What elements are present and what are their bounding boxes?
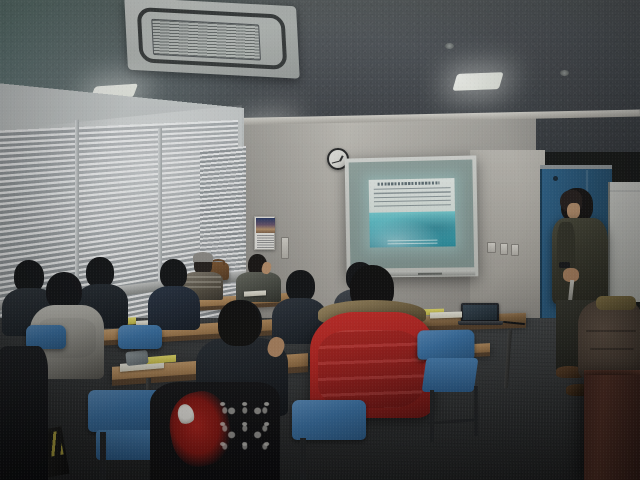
presenter-face (567, 203, 580, 219)
light-switch-plate[interactable] (487, 242, 496, 253)
wooden-podium (584, 375, 640, 480)
attendee-torso-gray-jacket (236, 272, 281, 302)
chair-leg (430, 390, 434, 442)
light-switch-plate[interactable] (511, 244, 519, 256)
bag-handle (211, 259, 225, 265)
wall-control-panel[interactable] (281, 237, 289, 259)
chair-leg (300, 438, 306, 480)
draped-brown-coat (578, 300, 640, 378)
desk-object-cup (125, 350, 148, 366)
ac-grille (151, 19, 261, 61)
attendee-head (218, 300, 260, 346)
foreground-attendee-shoulder (0, 346, 48, 480)
partition-handle[interactable] (553, 176, 558, 181)
paper-document (430, 311, 462, 318)
laptop-base[interactable] (458, 321, 503, 325)
laptop-display (463, 305, 497, 320)
chair-back[interactable] (417, 330, 474, 361)
chair-seat[interactable] (422, 358, 479, 392)
slide-body-text (374, 187, 451, 210)
coat-fold (590, 348, 634, 350)
light-switch-plate[interactable] (500, 243, 508, 255)
smoke-detector-icon (560, 70, 569, 76)
whiteboard-marker (418, 273, 442, 275)
slide-photo-caption (388, 240, 438, 246)
poster-image (256, 218, 275, 233)
ceiling-light-right (452, 72, 503, 91)
attendee-torso-navy (148, 286, 200, 330)
attendee-hair-gray (193, 252, 213, 262)
whiteboard-content (608, 190, 640, 294)
clock-minute-hand (332, 160, 340, 163)
partition-track (540, 165, 612, 169)
classroom-photo-scene: Classroom seminar with projector present… (0, 0, 640, 480)
coat-fold (586, 330, 636, 332)
sprinkler-head-icon (445, 43, 454, 49)
chair-leg (474, 386, 478, 436)
wall-poster (254, 216, 275, 250)
chair-leg (100, 432, 106, 480)
projection-screen-board (345, 155, 479, 277)
wristwatch (559, 262, 570, 268)
attendee-head (160, 259, 187, 289)
ceiling-air-conditioner (124, 0, 300, 79)
wave-motif (216, 396, 272, 454)
item-on-podium (596, 296, 636, 310)
coat-quilting (318, 330, 424, 408)
chair-back[interactable] (118, 325, 162, 349)
poster-caption-text (257, 235, 274, 248)
projected-slide (369, 178, 456, 248)
chair-back[interactable] (292, 400, 366, 440)
